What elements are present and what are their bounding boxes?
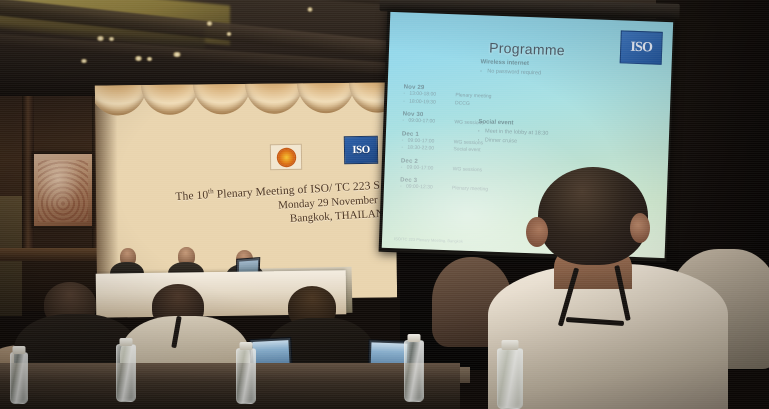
water-bottle — [10, 352, 28, 404]
iso-logo-banner-icon: ISO — [344, 136, 378, 165]
attendee-ear — [526, 217, 548, 247]
downlight — [96, 36, 105, 41]
iso-logo-banner-text: ISO — [352, 144, 370, 156]
downlight — [80, 59, 88, 63]
downlight — [226, 32, 232, 36]
water-bottle — [404, 340, 424, 402]
schedule-time: 18:30-22:00 — [407, 145, 453, 154]
curtain-valance — [95, 82, 397, 115]
valance-swag — [141, 82, 199, 115]
attendee-ear — [630, 213, 650, 243]
iso-logo-slide-text: ISO — [630, 39, 652, 56]
slide-note-wireless: Wireless internet No password required — [480, 59, 601, 80]
bottle-cap — [408, 334, 421, 342]
bottle-cap — [240, 342, 253, 350]
schedule-time: 09:00-17:00 — [407, 164, 453, 173]
iso-logo-slide-icon: ISO — [620, 30, 663, 65]
downlight — [134, 56, 143, 61]
water-bottle — [236, 348, 256, 404]
bottle-cap — [502, 340, 519, 350]
valance-swag — [95, 82, 147, 115]
valance-swag — [297, 82, 355, 113]
valance-swag — [245, 82, 303, 114]
slide-title: Programme — [489, 40, 565, 59]
bottle-cap — [120, 338, 133, 346]
schedule-time: 18:00-19:30 — [409, 98, 455, 107]
slide-footer: ISO/TC 223 Plenary Meeting, Bangkok — [394, 236, 463, 244]
slide-note-social: Social event Meet in the lobby at 18:30 … — [478, 119, 609, 149]
downlight — [172, 52, 182, 57]
downlight — [307, 7, 313, 12]
emblem-disc — [277, 148, 294, 165]
downlight — [206, 21, 213, 26]
downlight — [108, 37, 115, 41]
schedule-day-group: Nov 29 - 13:00-18:00 Plenary meeting - 1… — [403, 84, 554, 110]
framed-artwork — [34, 154, 92, 226]
valance-swag — [193, 82, 251, 114]
downlight — [146, 57, 153, 61]
orange-circular-emblem-icon — [270, 144, 302, 170]
attendee-head — [538, 167, 648, 265]
foreground-attendee — [480, 169, 769, 409]
conference-room-photo: ISO The 10th Plenary Meeting of ISO/ TC … — [0, 0, 769, 409]
water-bottle — [497, 348, 523, 409]
schedule-time: 09:00-17:00 — [408, 118, 454, 127]
wall-column — [22, 96, 34, 261]
note-item: No password required — [480, 67, 600, 80]
bottle-cap — [13, 346, 26, 354]
water-bottle — [116, 344, 136, 402]
audience-table — [0, 363, 460, 409]
schedule-time: 09:00-12:30 — [406, 184, 452, 193]
